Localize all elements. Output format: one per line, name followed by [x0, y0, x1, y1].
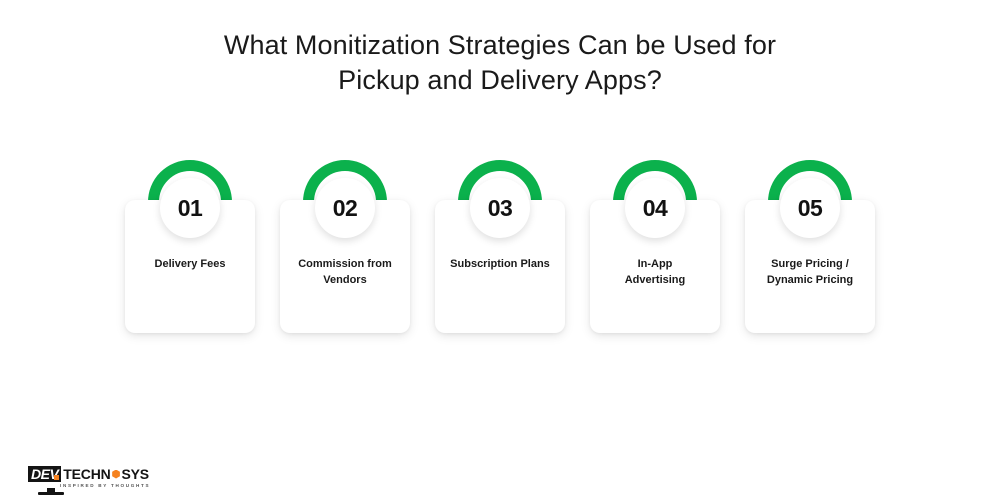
monitor-stand-icon: [38, 488, 64, 495]
card-label: Subscription Plans: [441, 256, 559, 272]
title-line-2: Pickup and Delivery Apps?: [0, 63, 1000, 98]
strategy-card-4[interactable]: 04 In-App Advertising: [590, 160, 720, 340]
logo-wordmark: DEV TECHN SYS: [28, 466, 149, 482]
strategy-card-5[interactable]: 05 Surge Pricing / Dynamic Pricing: [745, 160, 875, 340]
logo-dev-text: DEV: [28, 466, 61, 482]
card-number-badge: 03: [470, 178, 530, 238]
strategy-cards-row: 01 Delivery Fees 02 Commission from Vend…: [125, 160, 875, 340]
logo-techn-text: TECHN: [63, 467, 110, 481]
card-number-badge: 02: [315, 178, 375, 238]
strategy-card-1[interactable]: 01 Delivery Fees: [125, 160, 255, 340]
hexagon-icon: [112, 470, 121, 479]
card-label: Commission from Vendors: [286, 256, 404, 288]
page-title: What Monitization Strategies Can be Used…: [0, 28, 1000, 98]
title-line-1: What Monitization Strategies Can be Used…: [224, 30, 776, 60]
card-number: 03: [488, 197, 513, 220]
logo-tagline: INSPIRED BY THOUGHTS: [60, 483, 150, 488]
page-title-text: What Monitization Strategies Can be Used…: [0, 28, 1000, 98]
logo-technosys-text: TECHN SYS: [63, 467, 149, 481]
card-number: 02: [333, 197, 358, 220]
card-number-badge: 04: [625, 178, 685, 238]
card-number-badge: 01: [160, 178, 220, 238]
logo-sys-text: SYS: [122, 467, 149, 481]
card-number: 05: [798, 197, 823, 220]
strategy-card-2[interactable]: 02 Commission from Vendors: [280, 160, 410, 340]
card-number-badge: 05: [780, 178, 840, 238]
devtechnosys-logo: DEV TECHN SYS INSPIRED BY THOUGHTS: [28, 466, 150, 488]
card-label: Surge Pricing / Dynamic Pricing: [751, 256, 869, 288]
card-label: Delivery Fees: [131, 256, 249, 272]
card-number: 04: [643, 197, 668, 220]
card-number: 01: [178, 197, 203, 220]
card-label: In-App Advertising: [596, 256, 714, 288]
strategy-card-3[interactable]: 03 Subscription Plans: [435, 160, 565, 340]
